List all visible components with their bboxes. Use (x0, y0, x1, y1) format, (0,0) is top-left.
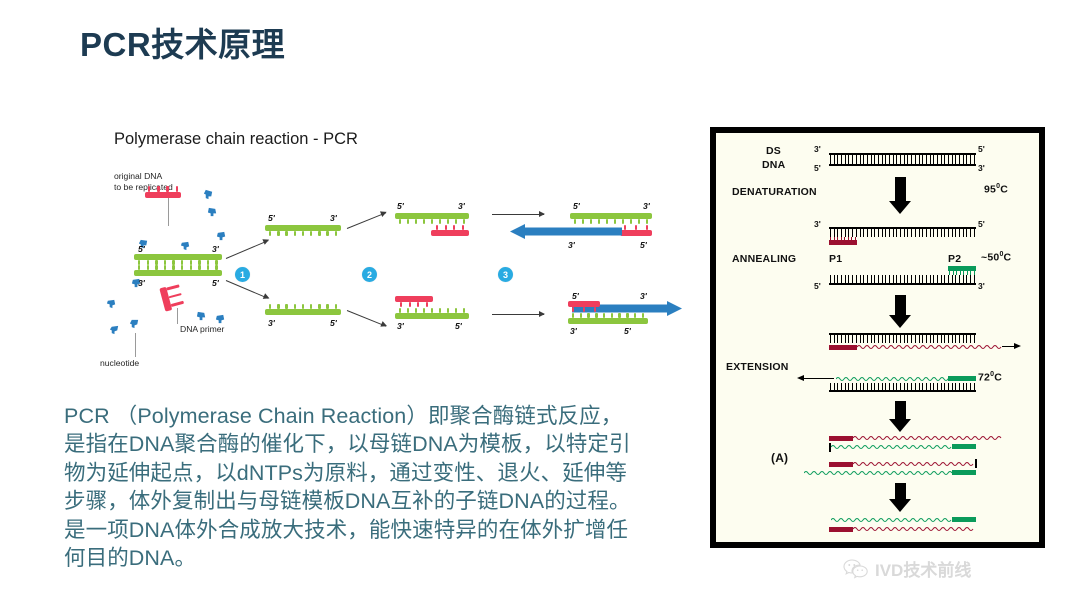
tick-5prime: 5' (978, 144, 985, 154)
step-circle-2: 2 (362, 267, 377, 282)
tick-3prime: 3' (814, 144, 821, 154)
dna-base-pairs (830, 335, 975, 343)
product-strand-green (804, 470, 954, 476)
label-dna-primer: DNA primer (180, 324, 224, 335)
page-title: PCR技术原理 (80, 18, 285, 66)
tick-5prime: 5' (978, 219, 985, 229)
slide-canvas: PCR技术原理 Polymerase chain reaction - PCR … (0, 0, 1080, 608)
stage-extension-label: EXTENSION (726, 361, 788, 373)
panel-label-a: (A) (771, 451, 788, 465)
product-primer-green (952, 444, 976, 449)
nucleotide-icon (180, 240, 191, 251)
new-strand-wavy-red (857, 344, 1002, 350)
single-strand-top (265, 225, 341, 237)
down-arrow-head (889, 499, 911, 512)
tick-5prime: 5' (624, 326, 631, 336)
extension-direction-right (1002, 346, 1014, 347)
pcr-overview-figure: Polymerase chain reaction - PCR original… (100, 128, 680, 376)
primer-p1-label: P1 (829, 253, 842, 265)
tick-5prime: 5' (330, 318, 337, 328)
tick-3prime: 3' (640, 291, 647, 301)
tick-3prime: 3' (458, 201, 465, 211)
step-circle-3: 3 (498, 267, 513, 282)
nucleotide-icon (109, 324, 120, 335)
body-line: PCR （Polymerase Chain Reaction）即聚合酶链式反应， (64, 402, 674, 430)
flow-arrow (492, 314, 544, 315)
tick-5prime: 5' (455, 321, 462, 331)
body-line: 物为延伸起点，以dNTPs为原料，通过变性、退火、延伸等 (64, 459, 674, 487)
nucleotide-icon (196, 311, 207, 322)
template-strand (568, 313, 648, 325)
pcr-cycle-figure: DS DNA 3' 5' 5' 3' DENATURATION 950C 3' … (710, 127, 1045, 548)
amplicon-strand-red (853, 526, 977, 532)
dna-backbone (829, 164, 976, 166)
tick-3prime: 3' (397, 321, 404, 331)
new-strand-teeth (532, 223, 600, 228)
temperature-extension: 720C (978, 371, 1002, 384)
strand-end-cap (975, 459, 977, 468)
extension-direction-left (804, 378, 834, 379)
tick-3prime: 3' (268, 318, 275, 328)
down-arrow-head (889, 315, 911, 328)
leader-nucleotide (135, 333, 136, 357)
nucleotide-icon (207, 207, 218, 218)
dna-base-pairs (830, 229, 975, 237)
product-primer-red (829, 462, 853, 467)
temperature-denaturation: 950C (984, 183, 1008, 196)
down-arrow-stem (895, 401, 906, 421)
dna-base-pairs (830, 383, 975, 390)
body-line: 何目的DNA。 (64, 544, 674, 572)
free-primer (145, 186, 181, 199)
tick-3prime: 3' (212, 244, 219, 254)
tick-5prime: 5' (138, 244, 145, 254)
tick-5prime: 5' (814, 281, 821, 291)
amplicon-primer-red (829, 527, 853, 532)
tick-5prime: 5' (573, 201, 580, 211)
nucleotide-icon (203, 189, 214, 200)
body-line: 是一项DNA体外合成放大技术，能快速特异的在体外扩增任 (64, 516, 674, 544)
tick-5prime: 5' (572, 291, 579, 301)
dna-backbone (829, 283, 976, 285)
single-strand-bottom (265, 304, 341, 316)
annealed-primer (431, 225, 469, 237)
temperature-annealing: ~500C (981, 251, 1011, 264)
body-line: 步骤，体外复制出与母链模板DNA互补的子链DNA的过程。 (64, 487, 674, 515)
body-paragraph: PCR （Polymerase Chain Reaction）即聚合酶链式反应，… (64, 402, 674, 572)
product-primer-green (952, 470, 976, 475)
down-arrow-stem (895, 177, 906, 203)
annealed-primer (620, 225, 652, 237)
label-ds: DS (766, 145, 781, 157)
product-strand-green (831, 444, 954, 450)
watermark: IVD技术前线 (843, 556, 971, 581)
label-nucleotide: nucleotide (100, 358, 139, 369)
flow-arrow (492, 214, 544, 215)
tick-3prime: 3' (978, 163, 985, 173)
stage-annealing-label: ANNEALING (732, 253, 796, 265)
leader-dna-primer (177, 308, 178, 324)
free-primer (159, 282, 188, 311)
template-strand (395, 213, 469, 225)
dna-backbone (829, 390, 976, 392)
wechat-icon (843, 558, 869, 580)
tick-5prime: 5' (212, 278, 219, 288)
down-arrow-head (889, 419, 911, 432)
nucleotide-icon (129, 318, 140, 329)
tick-3prime: 3' (643, 201, 650, 211)
tick-3prime: 3' (814, 219, 821, 229)
annealed-primer (568, 301, 600, 313)
nucleotide-icon (216, 231, 227, 242)
product-primer-red (829, 436, 853, 441)
tick-3prime: 3' (570, 326, 577, 336)
watermark-text: IVD技术前线 (875, 556, 971, 581)
figure-left-title: Polymerase chain reaction - PCR (114, 130, 358, 149)
flow-arrow (347, 212, 386, 229)
tick-5prime: 5' (268, 213, 275, 223)
double-stranded-dna (134, 254, 222, 286)
amplicon-primer-green (952, 517, 976, 522)
label-dna: DNA (762, 159, 785, 171)
flow-arrow (347, 310, 386, 327)
tick-5prime: 5' (397, 201, 404, 211)
nucleotide-icon (106, 298, 117, 309)
amplicon-strand-green (831, 517, 954, 523)
primer-p2-label: P2 (948, 253, 961, 265)
body-line: 是指在DNA聚合酶的催化下，以母链DNA为模板，以特定引 (64, 430, 674, 458)
primer-p1-bar (829, 345, 857, 350)
tick-3prime: 3' (978, 281, 985, 291)
dna-base-pairs (830, 275, 975, 283)
product-strand-red (853, 435, 1003, 441)
dna-base-pairs (830, 155, 975, 164)
down-arrow-head (889, 201, 911, 214)
primer-p1-teeth (830, 237, 856, 241)
tick-5prime: 5' (640, 240, 647, 250)
flow-arrow (226, 240, 269, 259)
stage-denaturation-label: DENATURATION (732, 186, 817, 198)
tick-3prime: 3' (138, 278, 145, 288)
down-arrow-stem (895, 295, 906, 317)
tick-5prime: 5' (814, 163, 821, 173)
tick-3prime: 3' (330, 213, 337, 223)
annealed-primer (395, 296, 433, 308)
step-circle-1: 1 (235, 267, 250, 282)
product-strand-red (853, 461, 977, 467)
flow-arrow (226, 280, 269, 299)
tick-3prime: 3' (568, 240, 575, 250)
primer-p2-bar (948, 376, 976, 381)
template-strand (395, 308, 469, 320)
